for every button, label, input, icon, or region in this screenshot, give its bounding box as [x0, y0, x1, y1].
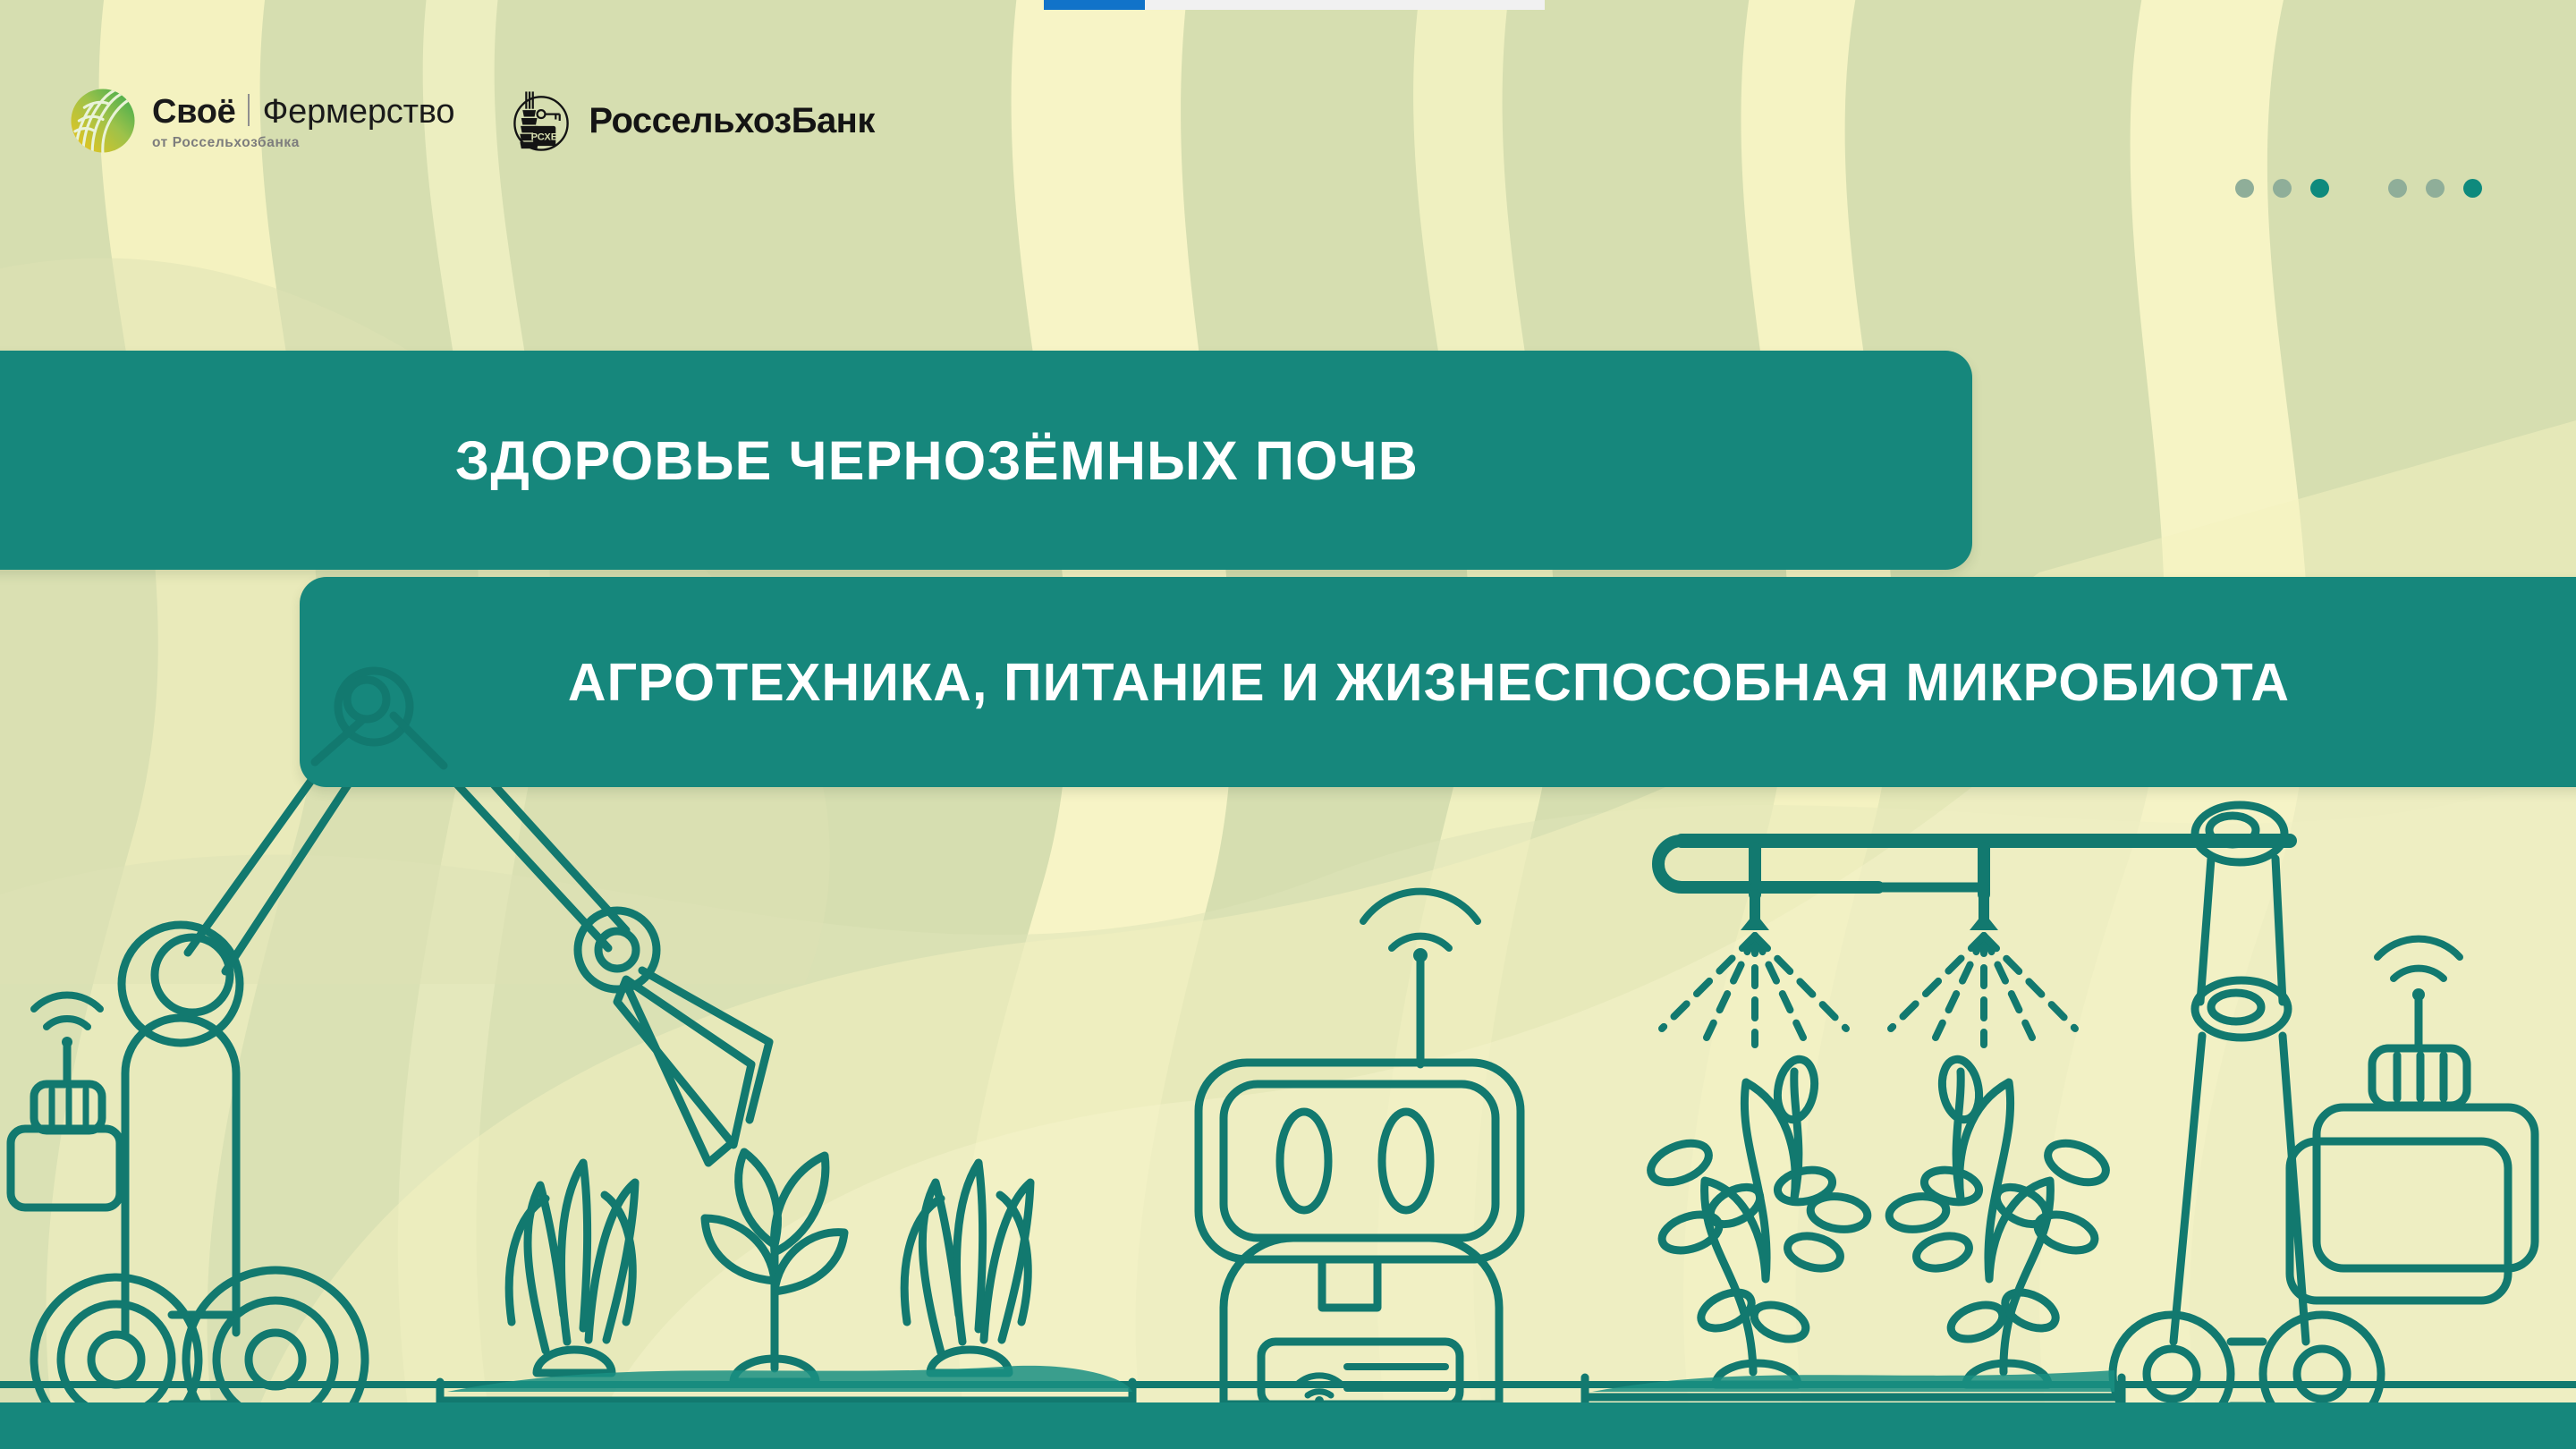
logo-bar: Своё Фермерство от Россельхозбанка — [70, 85, 875, 157]
presentation-slide: Своё Фермерство от Россельхозбанка — [0, 0, 2576, 1449]
dot-5[interactable] — [2426, 179, 2445, 198]
wifi-sensor-box-left-icon — [11, 996, 120, 1207]
growing-plant-vine-icon — [1645, 1056, 1869, 1385]
dot-2[interactable] — [2273, 179, 2292, 198]
irrigation-sprinkler-boom-icon — [1658, 841, 2290, 930]
svoe-leaf-sphere-icon — [70, 88, 136, 154]
seedling-sprout-icon — [705, 1152, 844, 1382]
dot-1[interactable] — [2235, 179, 2254, 198]
page-title: ЗДОРОВЬЕ ЧЕРНОЗЁМНЫХ ПОЧВ — [455, 429, 1481, 492]
svg-text:РСХБ: РСХБ — [531, 131, 558, 142]
pagination-dots — [2235, 179, 2482, 198]
progress-bar-fill — [1044, 0, 1145, 10]
growing-plant-vine-icon — [1887, 1056, 2112, 1385]
robot-display-face-icon — [1199, 1063, 1521, 1406]
water-spray-dashes-icon — [1662, 936, 2075, 1045]
rshb-wordmark: РоссельхозБанк — [589, 101, 875, 141]
dot-6[interactable] — [2463, 179, 2482, 198]
rshb-word-suffix: Банк — [792, 101, 875, 140]
svoe-word-regular: Фермерство — [262, 95, 454, 129]
banner-title-primary: ЗДОРОВЬЕ ЧЕРНОЗЁМНЫХ ПОЧВ — [0, 351, 1972, 570]
page-subtitle: АГРОТЕХНИКА, ПИТАНИЕ И ЖИЗНЕСПОСОБНАЯ МИ… — [568, 652, 2343, 713]
svoe-wordmark: Своё Фермерство от Россельхозбанка — [152, 90, 454, 151]
svoe-word-strong: Своё — [152, 95, 235, 129]
beet-plant-icon — [904, 1163, 1030, 1373]
svoe-fermerstvo-logo[interactable]: Своё Фермерство от Россельхозбанка — [70, 88, 454, 154]
soil-ground-fill — [0, 1366, 2576, 1449]
progress-bar-track[interactable] — [1044, 0, 1545, 10]
svoe-subtitle: от Россельхозбанка — [152, 135, 454, 151]
dot-4[interactable] — [2388, 179, 2407, 198]
banner-title-secondary: АГРОТЕХНИКА, ПИТАНИЕ И ЖИЗНЕСПОСОБНАЯ МИ… — [300, 577, 2576, 787]
beet-plant-icon — [509, 1163, 635, 1373]
dot-3[interactable] — [2310, 179, 2329, 198]
rosselkhozbank-logo[interactable]: РСХБ РоссельхозБанк — [508, 88, 875, 154]
dot-group-gap — [2348, 188, 2369, 189]
rshb-word-prefix: Россельхоз — [589, 101, 791, 140]
robot-antenna-wifi-icon — [1363, 892, 1478, 1064]
wifi-sensor-box-right-icon — [2290, 939, 2535, 1301]
rshb-wheat-key-circle-icon: РСХБ — [508, 88, 574, 154]
svoe-divider — [248, 94, 250, 126]
